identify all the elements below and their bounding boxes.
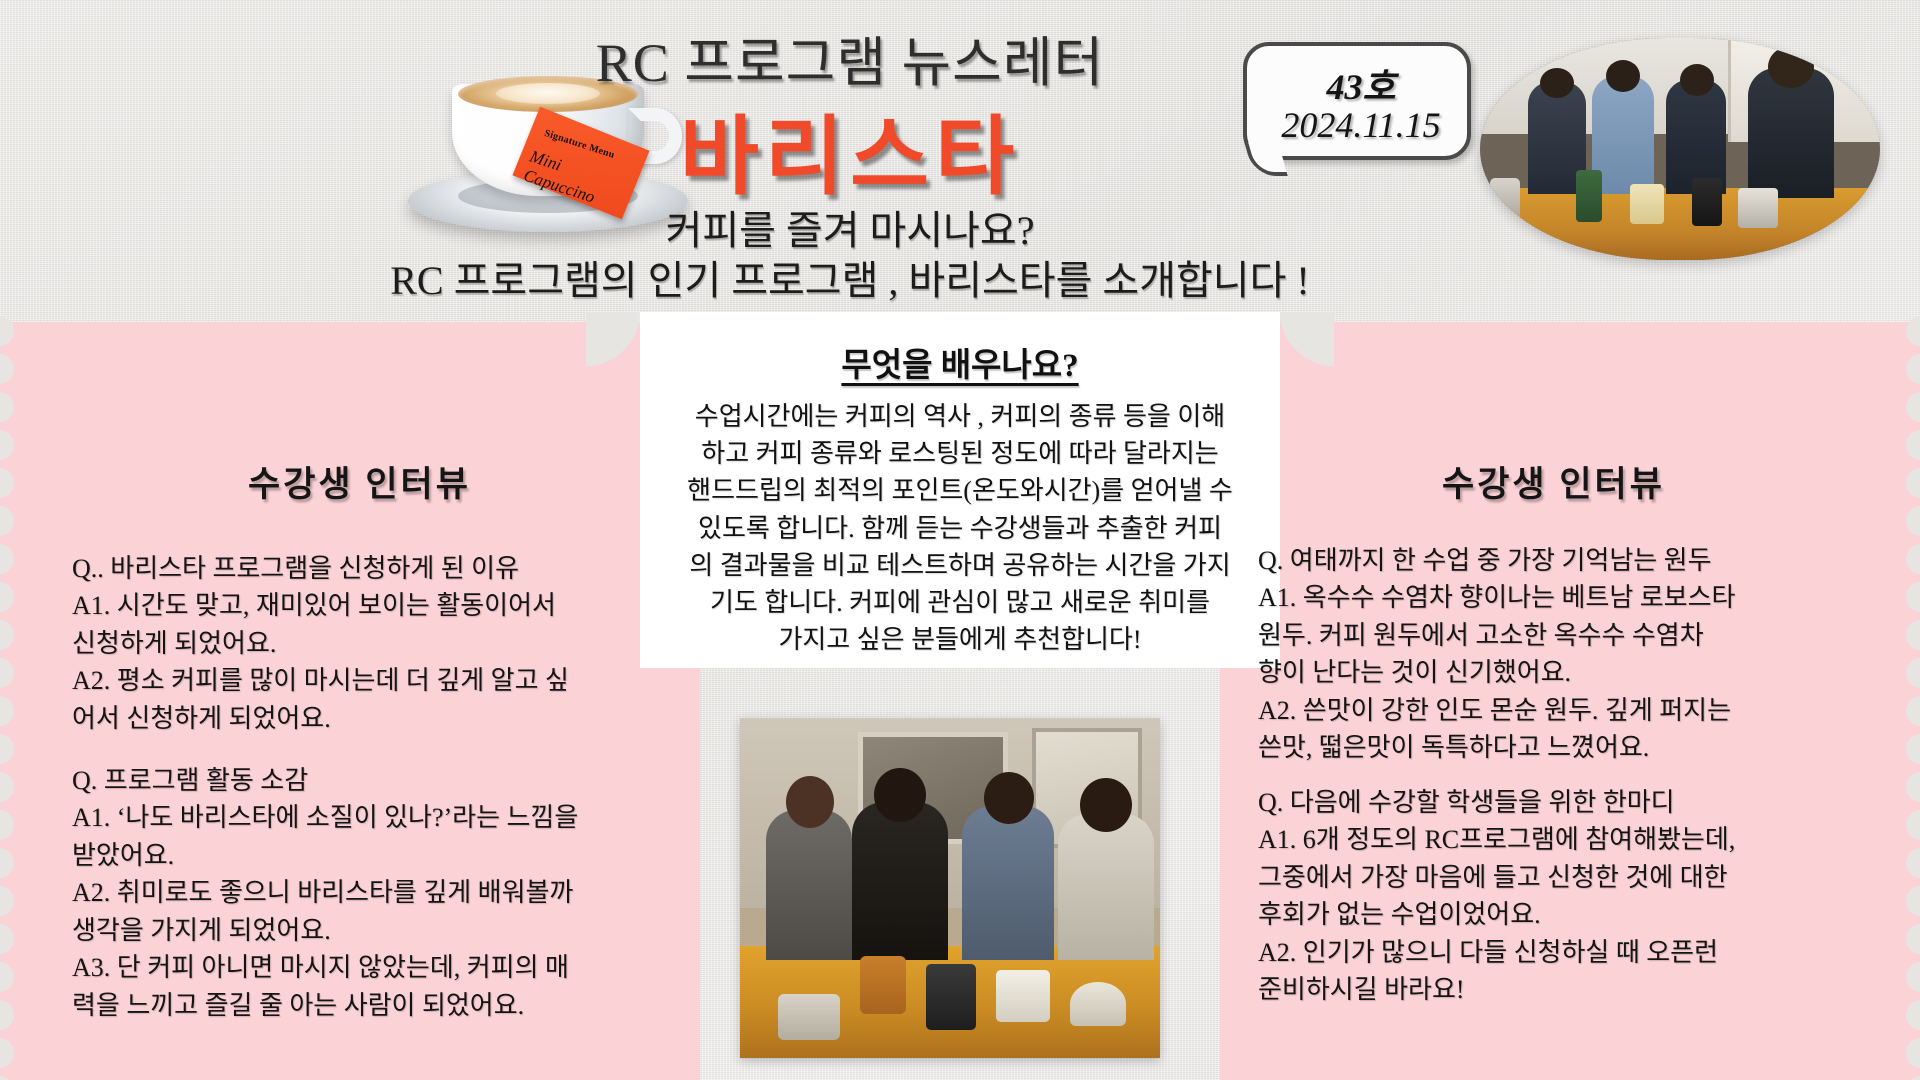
photo-person-head (1606, 60, 1640, 92)
scallop-bump (0, 468, 14, 498)
scallop-bump (1906, 506, 1920, 536)
scallop-bump (1906, 810, 1920, 840)
scallop-bump (0, 430, 14, 460)
scallop-bump (0, 924, 14, 954)
left-interview-heading: 수강생 인터뷰 (248, 456, 471, 507)
scallop-bump (0, 658, 14, 688)
scallop-bump (0, 772, 14, 802)
scallop-bump (0, 354, 14, 384)
left-scalloped-edge (0, 322, 26, 1080)
scallop-bump (1906, 544, 1920, 574)
photo-person (962, 806, 1054, 960)
scallop-bump (1906, 582, 1920, 612)
scallop-bump (0, 696, 14, 726)
scallop-bump (1906, 772, 1920, 802)
scallop-bump (0, 810, 14, 840)
scallop-bump (0, 392, 14, 422)
scallop-bump (1906, 658, 1920, 688)
scallop-bump (0, 1076, 14, 1080)
right-scalloped-edge (1894, 322, 1920, 1080)
subtitle-line-2: RC 프로그램의 인기 프로그램 , 바리스타를 소개합니다 ! (330, 248, 1370, 306)
photo-equipment (1070, 982, 1126, 1026)
photo-person (1666, 80, 1726, 194)
scallop-bump (1906, 468, 1920, 498)
scallop-bump (1906, 962, 1920, 992)
photo-person-head (984, 772, 1034, 824)
issue-date: 2024.11.15 (1247, 104, 1475, 146)
scallop-bump (0, 962, 14, 992)
photo-table (1480, 188, 1880, 260)
scallop-bump (1906, 620, 1920, 650)
issue-number: 43호 (1247, 58, 1475, 110)
page-title: 바리스타 (470, 86, 1230, 211)
photo-equipment (778, 994, 840, 1040)
scallop-bump (1906, 1038, 1920, 1068)
photo-person-head (1768, 46, 1814, 88)
right-interview-heading: 수강생 인터뷰 (1442, 456, 1665, 507)
class-photo-bottom (740, 718, 1160, 1058)
scallop-bump (1906, 734, 1920, 764)
scallop-bump (0, 886, 14, 916)
scallop-bump (0, 734, 14, 764)
photo-person (852, 802, 948, 960)
right-qa-group-2: Q. 다음에 수강할 학생들을 위한 한마디 A1. 6개 정도의 RC프로그램… (1258, 784, 1878, 1009)
scallop-bump (1906, 392, 1920, 422)
left-qa-group-1: Q.. 바리스타 프로그램을 신청하게 된 이유 A1. 시간도 맞고, 재미있… (72, 550, 672, 737)
photo-person (766, 810, 852, 960)
photo-person-head (1080, 778, 1132, 832)
scallop-bump (0, 582, 14, 612)
photo-equipment (1738, 188, 1778, 228)
scallop-bump (1906, 696, 1920, 726)
scallop-bump (1906, 924, 1920, 954)
scallop-bump (0, 1000, 14, 1030)
class-photo-top (1480, 38, 1880, 260)
photo-equipment (1630, 184, 1664, 224)
photo-person-head (1540, 68, 1574, 98)
photo-equipment (926, 964, 976, 1030)
center-box-heading: 무엇을 배우나요? (640, 338, 1280, 386)
left-qa-group-2: Q. 프로그램 활동 소감 A1. ‘나도 바리스타에 소질이 있나?’라는 느… (72, 762, 672, 1024)
scallop-bump (1906, 886, 1920, 916)
scallop-bump (0, 544, 14, 574)
scallop-bump (1906, 848, 1920, 878)
scallop-bump (0, 1038, 14, 1068)
scallop-bump (0, 620, 14, 650)
photo-person-head (874, 768, 926, 822)
scallop-bump (0, 506, 14, 536)
what-you-learn-box: 무엇을 배우나요? 수업시간에는 커피의 역사 , 커피의 종류 등을 이해 하… (640, 312, 1280, 668)
photo-equipment (1490, 178, 1520, 222)
scallop-bump (1906, 354, 1920, 384)
right-qa-group-1: Q. 여태까지 한 수업 중 가장 기억남는 원두 A1. 옥수수 수염차 향이… (1258, 542, 1878, 767)
photo-person-head (786, 776, 834, 828)
photo-equipment (1692, 178, 1722, 226)
photo-person-head (1680, 64, 1714, 96)
photo-person (1058, 814, 1154, 960)
newsletter-poster: Signature Menu Mini Capuccino RC 프로그램 뉴스… (0, 0, 1920, 1080)
center-box-body: 수업시간에는 커피의 역사 , 커피의 종류 등을 이해 하고 커피 종류와 로… (664, 398, 1256, 658)
photo-equipment (1576, 170, 1602, 222)
scallop-bump (1906, 430, 1920, 460)
scallop-bump (0, 848, 14, 878)
photo-equipment (996, 970, 1050, 1022)
photo-equipment (860, 956, 906, 1014)
scallop-bump (1906, 1000, 1920, 1030)
scallop-bump (1906, 1076, 1920, 1080)
